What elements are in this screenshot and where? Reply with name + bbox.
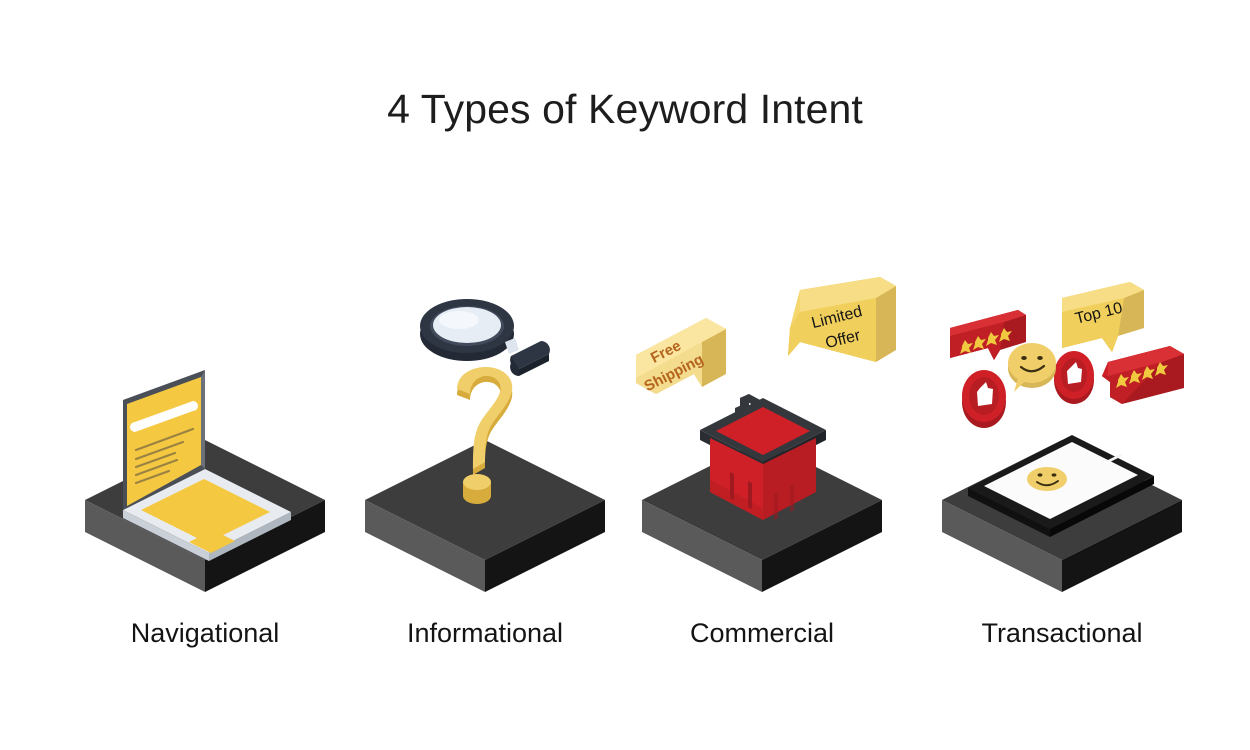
magnifier-icon xyxy=(420,299,550,376)
speech-bubble-limited-offer: Limited Offer xyxy=(788,277,896,362)
smiley-icon xyxy=(1027,467,1067,491)
intent-card-commercial[interactable]: Free Shipping Limited Offer Commercial xyxy=(622,270,902,690)
intent-card-transactional[interactable]: Top 10 Transactional xyxy=(922,270,1202,690)
intent-card-informational[interactable]: Informational xyxy=(345,270,625,690)
page-title: 4 Types of Keyword Intent xyxy=(0,86,1250,133)
thumbs-up-badge-right xyxy=(1054,351,1094,404)
magnifier-question-illustration xyxy=(345,270,625,610)
shopping-basket-illustration: Free Shipping Limited Offer xyxy=(622,270,902,610)
speech-bubble-free-shipping: Free Shipping xyxy=(636,318,726,395)
tablet-reviews-illustration: Top 10 xyxy=(922,270,1202,610)
intent-card-row: Navigational xyxy=(0,270,1250,690)
smiley-speech-bubble xyxy=(1008,343,1056,392)
thumbs-up-badge-left xyxy=(962,370,1006,428)
star-rating-badge-right xyxy=(1102,346,1184,404)
laptop-illustration xyxy=(65,270,345,610)
infographic-canvas: 4 Types of Keyword Intent xyxy=(0,0,1250,750)
intent-card-navigational[interactable]: Navigational xyxy=(65,270,345,690)
intent-label-transactional: Transactional xyxy=(922,618,1202,649)
intent-label-navigational: Navigational xyxy=(65,618,345,649)
intent-label-informational: Informational xyxy=(345,618,625,649)
speech-bubble-top-10: Top 10 xyxy=(1062,282,1144,352)
intent-label-commercial: Commercial xyxy=(622,618,902,649)
